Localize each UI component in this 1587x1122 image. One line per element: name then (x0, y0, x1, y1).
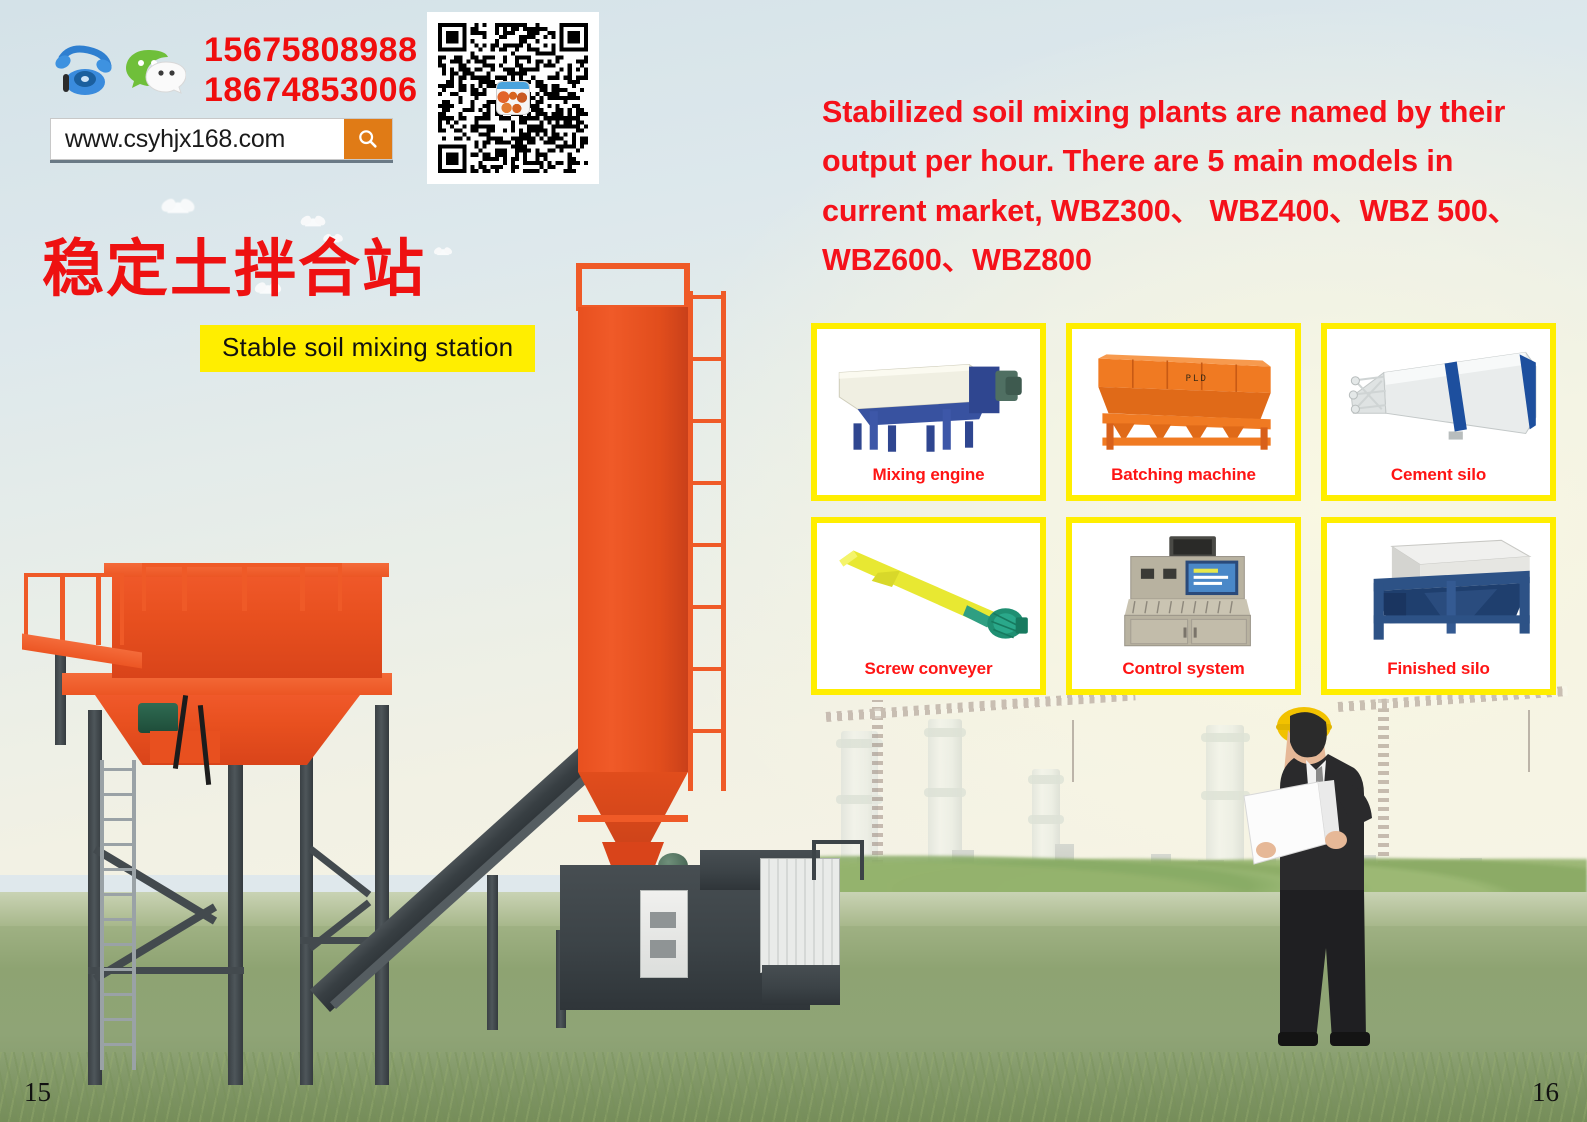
bin-support-legs (762, 965, 840, 1005)
svg-text:PLD: PLD (1186, 374, 1209, 384)
tower-brace (578, 815, 688, 822)
tower-top-cage (576, 263, 690, 311)
website-url[interactable]: www.csyhjx168.com (51, 119, 344, 159)
access-ladder (100, 760, 136, 1070)
page-title-chinese: 稳定土拌合站 (42, 238, 426, 300)
dove-icon (303, 217, 323, 227)
product-card-control-system[interactable]: Control system (1066, 517, 1301, 695)
product-label: Screw conveyer (864, 659, 992, 689)
dove-icon (165, 200, 191, 213)
product-label: Mixing engine (872, 465, 984, 495)
search-button[interactable] (344, 119, 392, 159)
tower-discharge-cone (578, 772, 688, 842)
phone-number-1: 15675808988 (204, 30, 418, 70)
product-card-screw-conveyer[interactable]: Screw conveyer (811, 517, 1046, 695)
contact-header: 15675808988 18674853006 (52, 30, 418, 110)
motor-housing (150, 731, 220, 763)
product-card-mixing-engine[interactable]: Mixing engine (811, 323, 1046, 501)
page-number-left: 15 (24, 1077, 51, 1108)
finished-silo-image (1327, 523, 1550, 659)
panel-vent (650, 940, 676, 958)
product-card-finished-silo[interactable]: Finished silo (1321, 517, 1556, 695)
stabilized-soil-mixing-plant-photo (0, 545, 540, 1085)
qr-center-logo (496, 81, 530, 115)
gearbox (138, 703, 178, 733)
qr-code-image[interactable] (438, 23, 588, 173)
cement-silo-image (1327, 329, 1550, 465)
conveyor-leg (487, 875, 498, 1030)
vertical-silo-tower (562, 255, 742, 895)
batching-machine-image: PLD (1072, 329, 1295, 465)
phone-number-2: 18674853006 (204, 70, 418, 110)
tower-ladder (688, 291, 726, 791)
product-label: Batching machine (1111, 465, 1256, 495)
wechat-icon (124, 44, 186, 96)
telephone-icon (52, 44, 114, 96)
product-card-grid: Mixing engine PLD (811, 323, 1556, 695)
search-icon (357, 128, 379, 150)
product-label: Finished silo (1387, 659, 1490, 689)
product-label: Control system (1122, 659, 1244, 689)
screw-conveyer-image (817, 523, 1040, 659)
dove-icon (436, 248, 450, 255)
product-card-cement-silo[interactable]: Cement silo (1321, 323, 1556, 501)
product-label: Cement silo (1391, 465, 1486, 495)
page-number-right: 16 (1532, 1077, 1559, 1108)
headline-paragraph: Stabilized soil mixing plants are named … (822, 88, 1562, 286)
control-system-image (1072, 523, 1295, 659)
engineer-figure (1232, 700, 1382, 1050)
panel-vent (650, 912, 676, 928)
page-title-english: Stable soil mixing station (200, 325, 535, 372)
service-platform-rail (812, 840, 864, 880)
mixing-engine-image (817, 329, 1040, 465)
product-card-batching-machine[interactable]: PLD Batching machine (1066, 323, 1301, 501)
website-search-bar[interactable]: www.csyhjx168.com (50, 118, 393, 160)
control-panel-box (640, 890, 688, 978)
tower-body (578, 307, 688, 772)
phone-numbers: 15675808988 18674853006 (204, 30, 418, 110)
qr-code-panel[interactable] (427, 12, 599, 184)
